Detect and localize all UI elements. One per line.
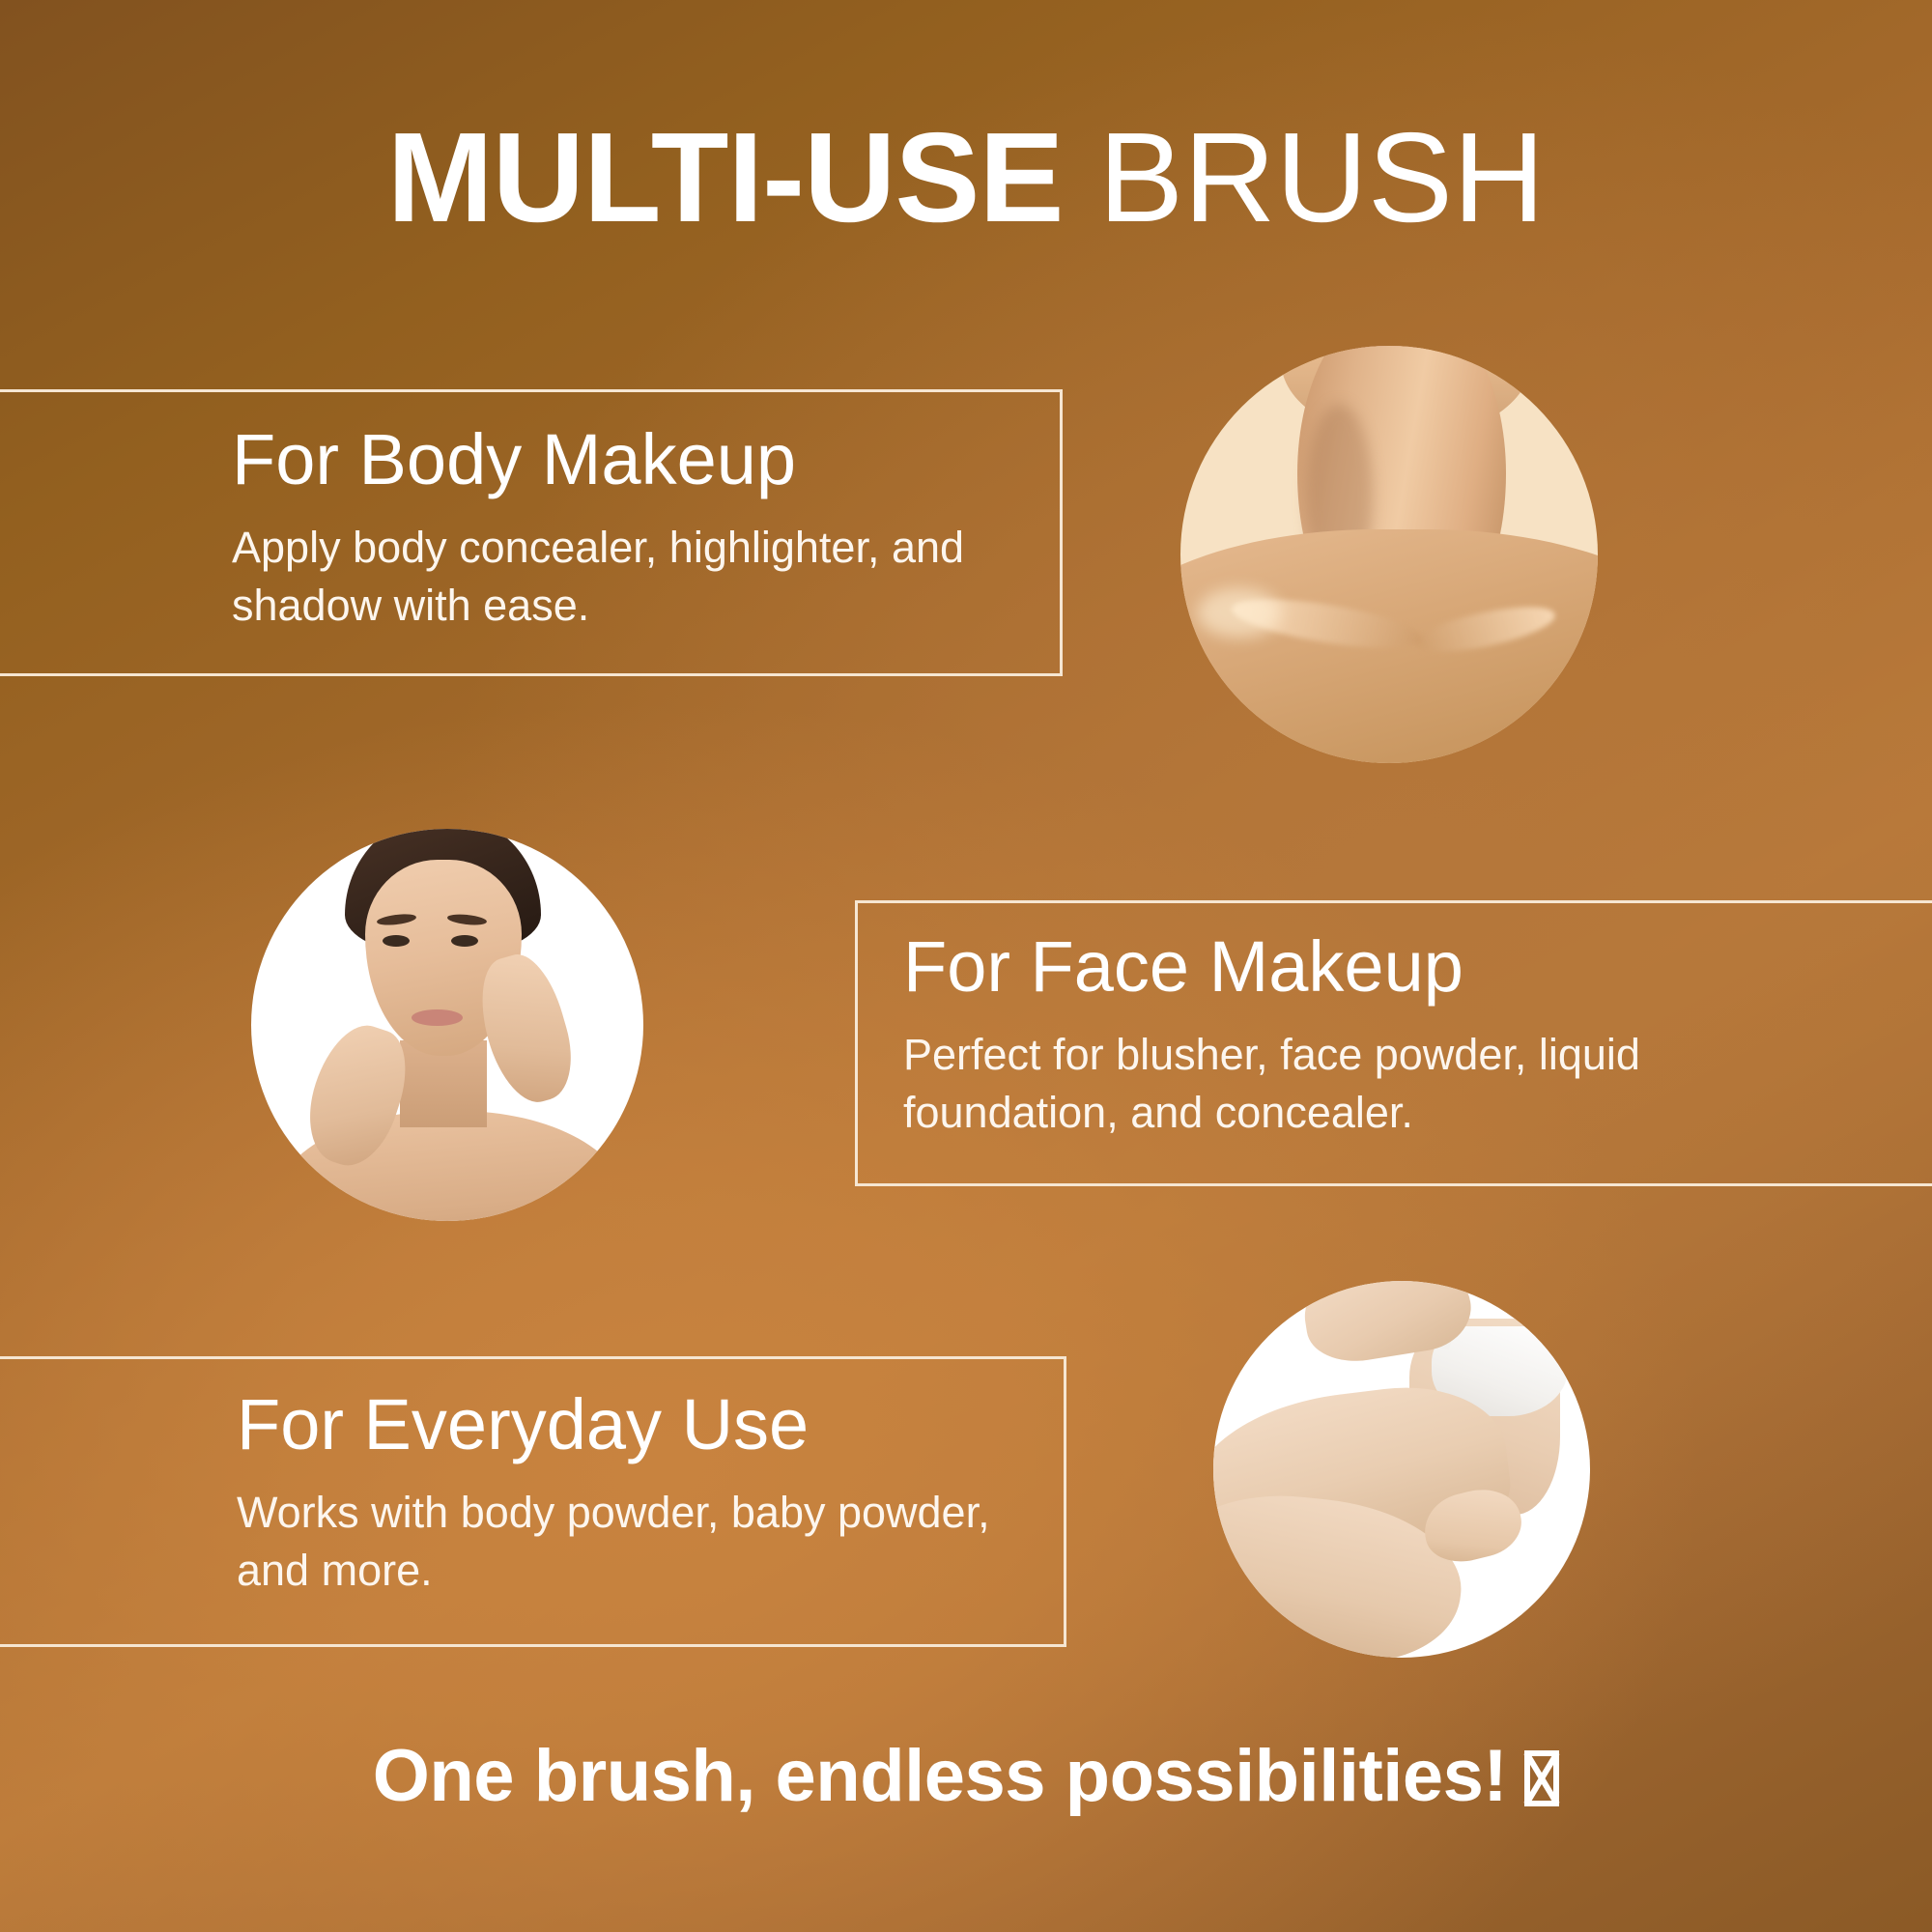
eye-left — [383, 935, 410, 947]
page-title-bold: MULTI-USE — [387, 106, 1064, 248]
eye-right — [451, 935, 478, 947]
feature-description-body-makeup: Apply body concealer, highlighter, and s… — [232, 519, 1072, 635]
tagline: One brush, endless possibilities! — [0, 1734, 1932, 1818]
feature-description-everyday-use: Works with body powder, baby powder, and… — [237, 1484, 1058, 1600]
feature-heading-body-makeup: For Body Makeup — [232, 422, 1072, 497]
skin-sheen-highlight — [1197, 588, 1280, 639]
infographic-canvas: MULTI-USE BRUSH For Body Makeup Apply bo… — [0, 0, 1932, 1932]
page-title-light: BRUSH — [1064, 106, 1546, 248]
feature-text-everyday-use: For Everyday Use Works with body powder,… — [237, 1387, 1058, 1599]
photo-womans-face — [251, 829, 643, 1221]
feature-text-body-makeup: For Body Makeup Apply body concealer, hi… — [232, 422, 1072, 634]
feature-description-face-makeup: Perfect for blusher, face powder, liquid… — [903, 1026, 1753, 1142]
missing-glyph-box-icon — [1524, 1750, 1559, 1806]
feature-heading-face-makeup: For Face Makeup — [903, 929, 1753, 1005]
tagline-text: One brush, endless possibilities! — [373, 1735, 1507, 1817]
page-title: MULTI-USE BRUSH — [0, 114, 1932, 241]
mouth-shape — [412, 1009, 463, 1026]
feature-heading-everyday-use: For Everyday Use — [237, 1387, 1058, 1463]
photo-legs-body — [1213, 1281, 1590, 1658]
photo-neck-collarbone — [1180, 346, 1598, 763]
feature-text-face-makeup: For Face Makeup Perfect for blusher, fac… — [903, 929, 1753, 1141]
